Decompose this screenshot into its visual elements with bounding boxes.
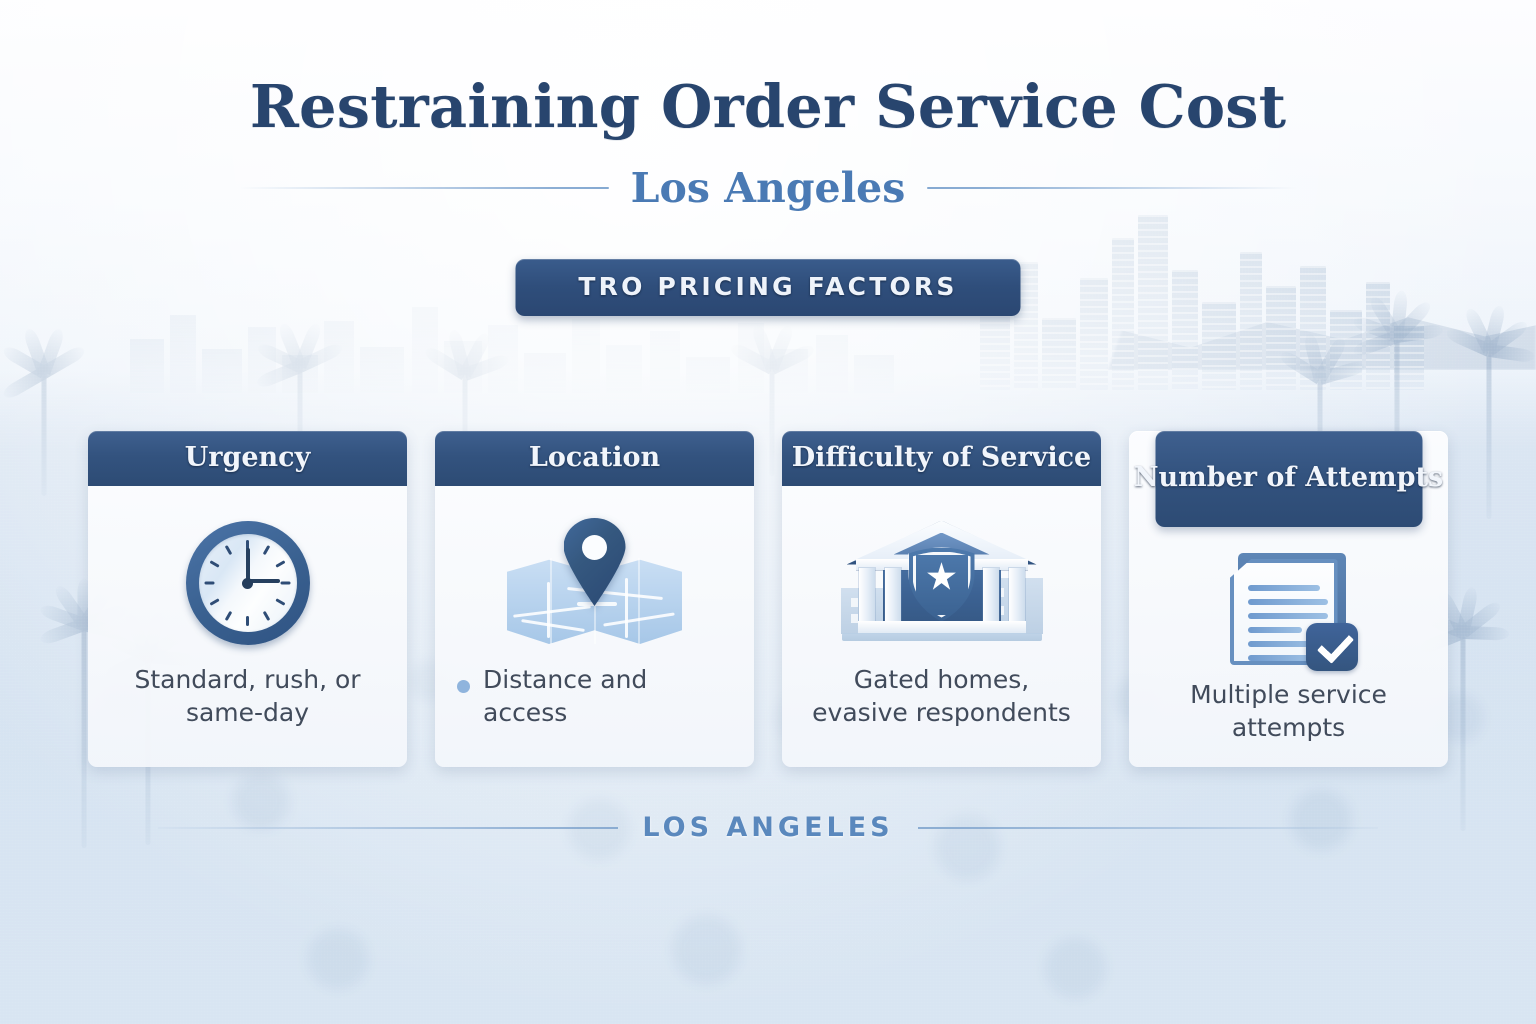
card-description: Distance and access xyxy=(457,664,732,729)
factor-card-difficulty[interactable]: Difficulty of Service xyxy=(782,431,1101,767)
document-check-icon xyxy=(1220,549,1358,673)
bullet-dot xyxy=(457,680,470,693)
footer-label: LOS ANGELES xyxy=(642,812,893,843)
footer-rule-right xyxy=(918,827,1378,829)
card-title: Number of Attempts xyxy=(1134,464,1443,492)
section-badge: TRO PRICING FACTORS xyxy=(516,259,1021,316)
subtitle-rule-right xyxy=(927,187,1297,189)
poster-content: Restraining Order Service Cost Los Angel… xyxy=(0,0,1536,1024)
card-title: Urgency xyxy=(185,444,311,472)
footer-rule-left xyxy=(158,827,618,829)
section-badge-label: TRO PRICING FACTORS xyxy=(550,272,987,301)
factor-card-location[interactable]: Location xyxy=(435,431,754,767)
card-description: Standard, rush, or same-day xyxy=(110,664,385,729)
card-header-attempts: Number of Attempts xyxy=(1155,431,1422,527)
card-description-text: Distance and access xyxy=(483,665,647,727)
clock-icon xyxy=(186,521,310,645)
page-title: Restraining Order Service Cost xyxy=(0,72,1536,141)
subtitle-row: Los Angeles xyxy=(0,164,1536,212)
factor-card-attempts[interactable]: Number of Attempts xyxy=(1129,431,1448,767)
map-pin-icon xyxy=(507,518,682,648)
card-description: Gated homes, evasive respondents xyxy=(804,664,1079,729)
card-header-difficulty: Difficulty of Service xyxy=(782,431,1101,486)
icon-slot xyxy=(1151,549,1426,673)
infographic-poster: Restraining Order Service Cost Los Angel… xyxy=(0,0,1536,1024)
card-body-location: Distance and access xyxy=(435,486,754,767)
card-title: Difficulty of Service xyxy=(792,444,1091,472)
card-header-location: Location xyxy=(435,431,754,486)
icon-slot xyxy=(457,508,732,658)
subtitle-rule-left xyxy=(239,187,609,189)
card-description: Multiple service attempts xyxy=(1151,679,1426,744)
factor-card-urgency[interactable]: Urgency xyxy=(88,431,407,767)
icon-slot xyxy=(110,508,385,658)
card-body-urgency: Standard, rush, or same-day xyxy=(88,486,407,767)
card-body-difficulty: Gated homes, evasive respondents xyxy=(782,486,1101,767)
star-icon xyxy=(927,562,957,592)
factor-cards: Urgency xyxy=(88,431,1448,767)
icon-slot xyxy=(804,508,1079,658)
courthouse-shield-icon xyxy=(837,521,1047,646)
card-title: Location xyxy=(529,444,660,472)
page-subtitle: Los Angeles xyxy=(631,164,906,212)
checkmark-badge xyxy=(1306,623,1358,671)
card-header-urgency: Urgency xyxy=(88,431,407,486)
footer: LOS ANGELES xyxy=(0,812,1536,843)
